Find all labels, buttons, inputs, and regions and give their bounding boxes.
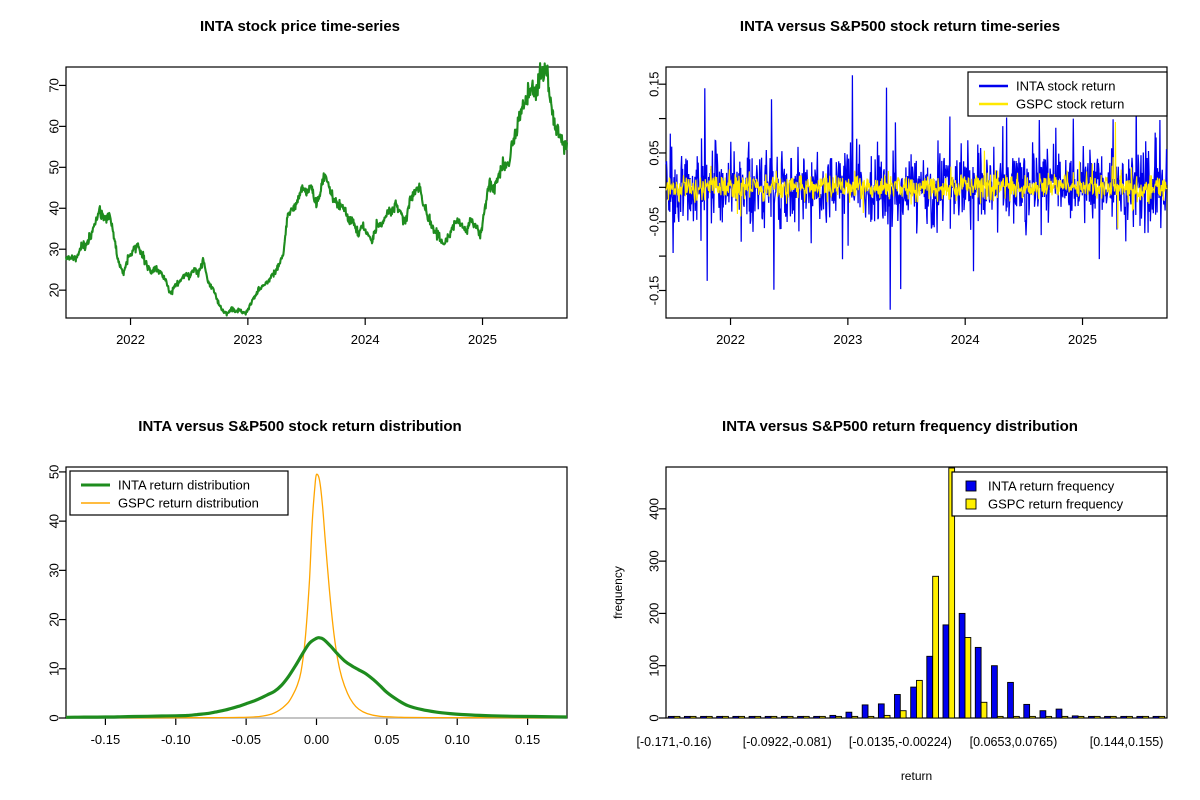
- x-tick-label: [0.0653,0.0765): [970, 735, 1058, 749]
- inta-bar: [814, 716, 820, 718]
- panel-return-frequency: INTA versus S&P500 return frequency dist…: [600, 400, 1200, 800]
- x-tick-label: 0.10: [445, 732, 470, 747]
- inta-bar: [927, 656, 933, 718]
- figure-canvas: INTA stock price time-series 20304050607…: [0, 0, 1200, 800]
- plot-return-timeseries: -0.15-0.050.050.152022202320242025 INTA …: [600, 0, 1200, 400]
- gspc-bar: [706, 716, 712, 718]
- x-tick-label: [-0.0922,-0.081): [743, 735, 832, 749]
- x-tick-label: [0.144,0.155): [1090, 735, 1164, 749]
- inta-bar: [1008, 682, 1014, 718]
- y-tick-label: 0.05: [647, 140, 662, 165]
- x-axis-label: return: [901, 769, 932, 783]
- gspc-bar: [868, 716, 874, 718]
- gspc-bar: [1062, 716, 1068, 718]
- y-tick-label: 0: [47, 714, 62, 721]
- inta-bar: [684, 716, 690, 718]
- legend-label: INTA return distribution: [118, 478, 250, 493]
- inta-bar: [668, 716, 674, 718]
- plot-inta-price: 2030405060702022202320242025: [0, 0, 600, 400]
- gspc-bar: [1046, 716, 1052, 718]
- gspc-bar: [900, 711, 906, 718]
- legend-label: GSPC return distribution: [118, 496, 259, 511]
- inta-bar: [701, 716, 707, 718]
- inta-bar: [1024, 704, 1030, 718]
- inta-bar: [798, 716, 804, 718]
- x-tick-label: 2025: [1068, 332, 1097, 347]
- x-tick-label: 2022: [116, 332, 145, 347]
- inta-bar: [1153, 716, 1159, 718]
- panel-return-timeseries: INTA versus S&P500 stock return time-ser…: [600, 0, 1200, 400]
- gspc-bar: [739, 716, 745, 718]
- inta-bar: [1089, 716, 1095, 718]
- inta-bar: [992, 666, 998, 718]
- gspc-bar: [674, 716, 680, 718]
- inta-bar: [975, 647, 981, 718]
- inta-bar: [1040, 711, 1046, 718]
- y-tick-label: 70: [47, 78, 62, 92]
- y-tick-label: 10: [47, 662, 62, 676]
- inta-bar: [895, 695, 901, 719]
- x-tick-label: 2025: [468, 332, 497, 347]
- inta-bar: [911, 687, 917, 718]
- gspc-bar: [820, 716, 826, 718]
- x-tick-label: 2022: [716, 332, 745, 347]
- gspc-bar: [1094, 716, 1100, 718]
- panel-inta-price-timeseries: INTA stock price time-series 20304050607…: [0, 0, 600, 400]
- inta-bar: [830, 715, 836, 718]
- y-tick-label: 60: [47, 119, 62, 133]
- inta-bar: [878, 704, 884, 718]
- price-line: [66, 63, 567, 315]
- y-tick-label: 400: [647, 498, 662, 520]
- gspc-bar: [1159, 716, 1165, 718]
- gspc-bar: [723, 716, 729, 718]
- y-tick-label: 20: [47, 612, 62, 626]
- gspc-bar: [1014, 716, 1020, 718]
- gspc-bar: [1110, 716, 1116, 718]
- legend-swatch: [966, 481, 976, 491]
- gspc-bar: [1030, 716, 1036, 718]
- x-tick-label: 2024: [951, 332, 980, 347]
- gspc-bar: [1127, 716, 1133, 718]
- gspc-bar: [1078, 716, 1084, 718]
- x-tick-label: 2023: [233, 332, 262, 347]
- gspc-bar: [852, 716, 858, 718]
- gspc-bar: [917, 680, 923, 718]
- inta-bar: [1105, 716, 1111, 718]
- gspc-bar: [771, 716, 777, 718]
- gspc-bar: [965, 638, 971, 719]
- plot-return-density: 01020304050-0.15-0.10-0.050.000.050.100.…: [0, 400, 600, 800]
- y-tick-label: 20: [47, 283, 62, 297]
- x-tick-label: 2023: [833, 332, 862, 347]
- y-tick-label: 30: [47, 563, 62, 577]
- inta-bar: [943, 625, 949, 718]
- x-tick-label: -0.15: [91, 732, 121, 747]
- y-tick-label: 300: [647, 550, 662, 572]
- plot-box: [66, 67, 567, 318]
- x-tick-label: -0.10: [161, 732, 191, 747]
- legend-label: GSPC return frequency: [988, 497, 1124, 512]
- x-tick-label: [-0.171,-0.16): [637, 735, 712, 749]
- inta-bar: [749, 716, 755, 718]
- x-tick-label: 0.15: [515, 732, 540, 747]
- inta-bar: [733, 716, 739, 718]
- legend-label: GSPC stock return: [1016, 97, 1124, 112]
- y-tick-label: -0.05: [647, 207, 662, 237]
- x-tick-label: -0.05: [231, 732, 261, 747]
- y-tick-label: 0: [647, 714, 662, 721]
- gspc-bar: [884, 715, 890, 718]
- legend-label: INTA return frequency: [988, 479, 1115, 494]
- inta-bar: [1137, 716, 1143, 718]
- gspc-bar: [933, 576, 939, 718]
- legend-label: INTA stock return: [1016, 79, 1115, 94]
- gspc-bar: [803, 716, 809, 718]
- y-tick-label: 50: [47, 465, 62, 479]
- plot-return-frequency: 0100200300400frequency INTA return frequ…: [600, 400, 1200, 800]
- x-tick-label: 0.00: [304, 732, 329, 747]
- inta-bar: [862, 705, 868, 718]
- x-tick-label: 0.05: [374, 732, 399, 747]
- inta-bar: [959, 613, 965, 718]
- x-tick-label: 2024: [351, 332, 380, 347]
- inta-density-line: [66, 638, 567, 718]
- gspc-bar: [1143, 716, 1149, 718]
- y-tick-label: 200: [647, 603, 662, 625]
- gspc-bar: [997, 716, 1003, 718]
- inta-bar: [846, 712, 852, 718]
- y-tick-label: -0.15: [647, 276, 662, 306]
- gspc-bar: [981, 702, 987, 718]
- y-tick-label: 40: [47, 514, 62, 528]
- inta-bar: [781, 716, 787, 718]
- panel-return-density: INTA versus S&P500 stock return distribu…: [0, 400, 600, 800]
- y-tick-label: 40: [47, 201, 62, 215]
- gspc-bar: [690, 716, 696, 718]
- inta-bar: [765, 716, 771, 718]
- inta-bar: [1056, 709, 1062, 718]
- gspc-bar: [787, 716, 793, 718]
- y-tick-label: 50: [46, 160, 61, 174]
- inta-bar: [1072, 716, 1078, 718]
- gspc-bar: [836, 716, 842, 718]
- y-axis-label: frequency: [611, 566, 625, 619]
- y-tick-label: 0.15: [647, 72, 662, 97]
- x-tick-label: [-0.0135,-0.00224): [849, 735, 952, 749]
- y-tick-label: 100: [647, 655, 662, 677]
- gspc-bar: [755, 716, 761, 718]
- legend-swatch: [966, 499, 976, 509]
- inta-bar: [1121, 716, 1127, 718]
- inta-bar: [717, 716, 723, 718]
- y-tick-label: 30: [47, 242, 62, 256]
